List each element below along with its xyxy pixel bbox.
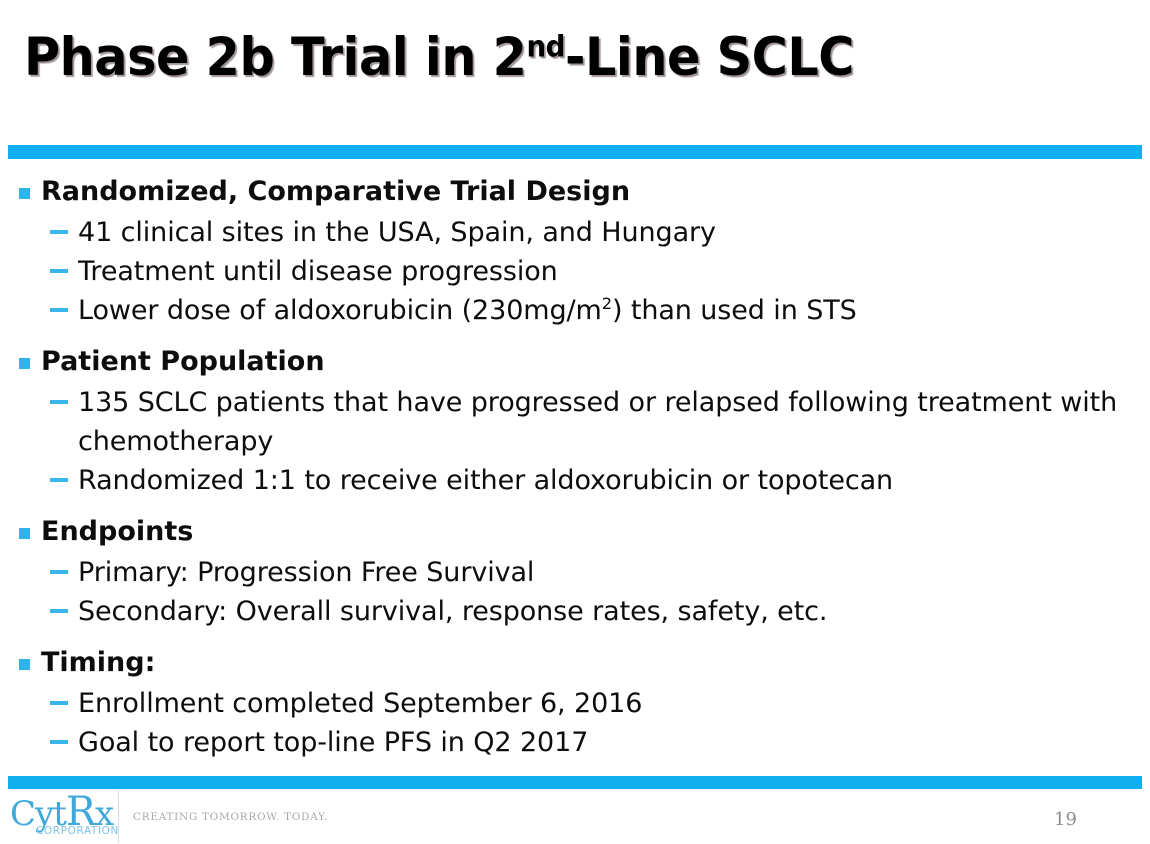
dash-bullet-icon	[50, 230, 68, 234]
cytrx-logo: CytRx CORPORATION	[10, 795, 114, 841]
dash-bullet-icon	[50, 308, 68, 312]
bullet-heading: Randomized, Comparative Trial Design	[0, 172, 1150, 212]
sub-bullet-label-post: ) than used in STS	[612, 295, 857, 326]
content-group: Randomized, Comparative Trial Design 41 …	[0, 172, 1150, 330]
footer-divider-bar	[8, 776, 1142, 789]
page-title-tail: -Line SCLC	[565, 27, 854, 88]
square-bullet-icon	[19, 659, 30, 670]
sub-bullet-label: 135 SCLC patients that have progressed o…	[78, 387, 1117, 457]
slide-body: Randomized, Comparative Trial Design 41 …	[0, 172, 1150, 768]
dash-bullet-icon	[50, 478, 68, 482]
bullet-heading-label: Timing:	[41, 647, 155, 678]
bullet-heading-label: Randomized, Comparative Trial Design	[41, 176, 630, 207]
dash-bullet-icon	[50, 701, 68, 705]
bullet-heading-label: Patient Population	[41, 346, 325, 377]
sub-bullet-label: Goal to report top-line PFS in Q2 2017	[78, 727, 588, 758]
sub-bullet-label: Randomized 1:1 to receive either aldoxor…	[78, 465, 893, 496]
dash-bullet-icon	[50, 570, 68, 574]
sub-bullet-item: 41 clinical sites in the USA, Spain, and…	[0, 213, 1150, 252]
dash-bullet-icon	[50, 400, 68, 404]
page-title: Phase 2b Trial in 2nd-Line SCLC	[24, 28, 1047, 88]
content-group: Timing: Enrollment completed September 6…	[0, 643, 1150, 762]
dash-bullet-icon	[50, 609, 68, 613]
square-bullet-icon	[19, 528, 30, 539]
sub-bullet-item: Randomized 1:1 to receive either aldoxor…	[0, 461, 1150, 500]
bullet-heading-label: Endpoints	[41, 516, 193, 547]
square-bullet-icon	[19, 358, 30, 369]
sub-bullet-item: Primary: Progression Free Survival	[0, 553, 1150, 592]
sub-bullet-label: 41 clinical sites in the USA, Spain, and…	[78, 217, 716, 248]
sub-bullet-item: Goal to report top-line PFS in Q2 2017	[0, 723, 1150, 762]
page-title-main: Phase 2b Trial in 2	[24, 27, 526, 88]
content-group: Endpoints Primary: Progression Free Surv…	[0, 512, 1150, 631]
square-bullet-icon	[19, 188, 30, 199]
sub-bullet-label: Secondary: Overall survival, response ra…	[78, 596, 827, 627]
sub-bullet-label-pre: Lower dose of aldoxorubicin (230mg/m	[78, 295, 602, 326]
sub-bullet-superscript: 2	[602, 294, 612, 313]
bullet-heading: Endpoints	[0, 512, 1150, 552]
group-spacer	[0, 633, 1150, 643]
sub-bullet-label: Enrollment completed September 6, 2016	[78, 688, 642, 719]
page-number: 19	[1054, 809, 1077, 830]
bullet-heading: Patient Population	[0, 342, 1150, 382]
sub-bullet-item: Enrollment completed September 6, 2016	[0, 684, 1150, 723]
slide-footer: CytRx CORPORATION CREATING TOMORROW. TOD…	[0, 789, 1150, 844]
sub-bullet-item: 135 SCLC patients that have progressed o…	[0, 383, 1150, 461]
dash-bullet-icon	[50, 740, 68, 744]
content-group: Patient Population 135 SCLC patients tha…	[0, 342, 1150, 500]
bullet-heading: Timing:	[0, 643, 1150, 683]
group-spacer	[0, 502, 1150, 512]
page-title-superscript: nd	[526, 28, 564, 63]
footer-tagline: CREATING TOMORROW. TODAY.	[133, 811, 328, 823]
sub-bullet-label: Treatment until disease progression	[78, 256, 558, 287]
logo-subtext-corporation: CORPORATION	[36, 825, 119, 837]
sub-bullet-item: Treatment until disease progression	[0, 252, 1150, 291]
header-divider-bar	[8, 145, 1142, 159]
sub-bullet-item: Secondary: Overall survival, response ra…	[0, 592, 1150, 631]
group-spacer	[0, 332, 1150, 342]
dash-bullet-icon	[50, 269, 68, 273]
sub-bullet-label: Primary: Progression Free Survival	[78, 557, 534, 588]
sub-bullet-item: Lower dose of aldoxorubicin (230mg/m2) t…	[0, 291, 1150, 330]
footer-vertical-divider	[118, 791, 119, 843]
